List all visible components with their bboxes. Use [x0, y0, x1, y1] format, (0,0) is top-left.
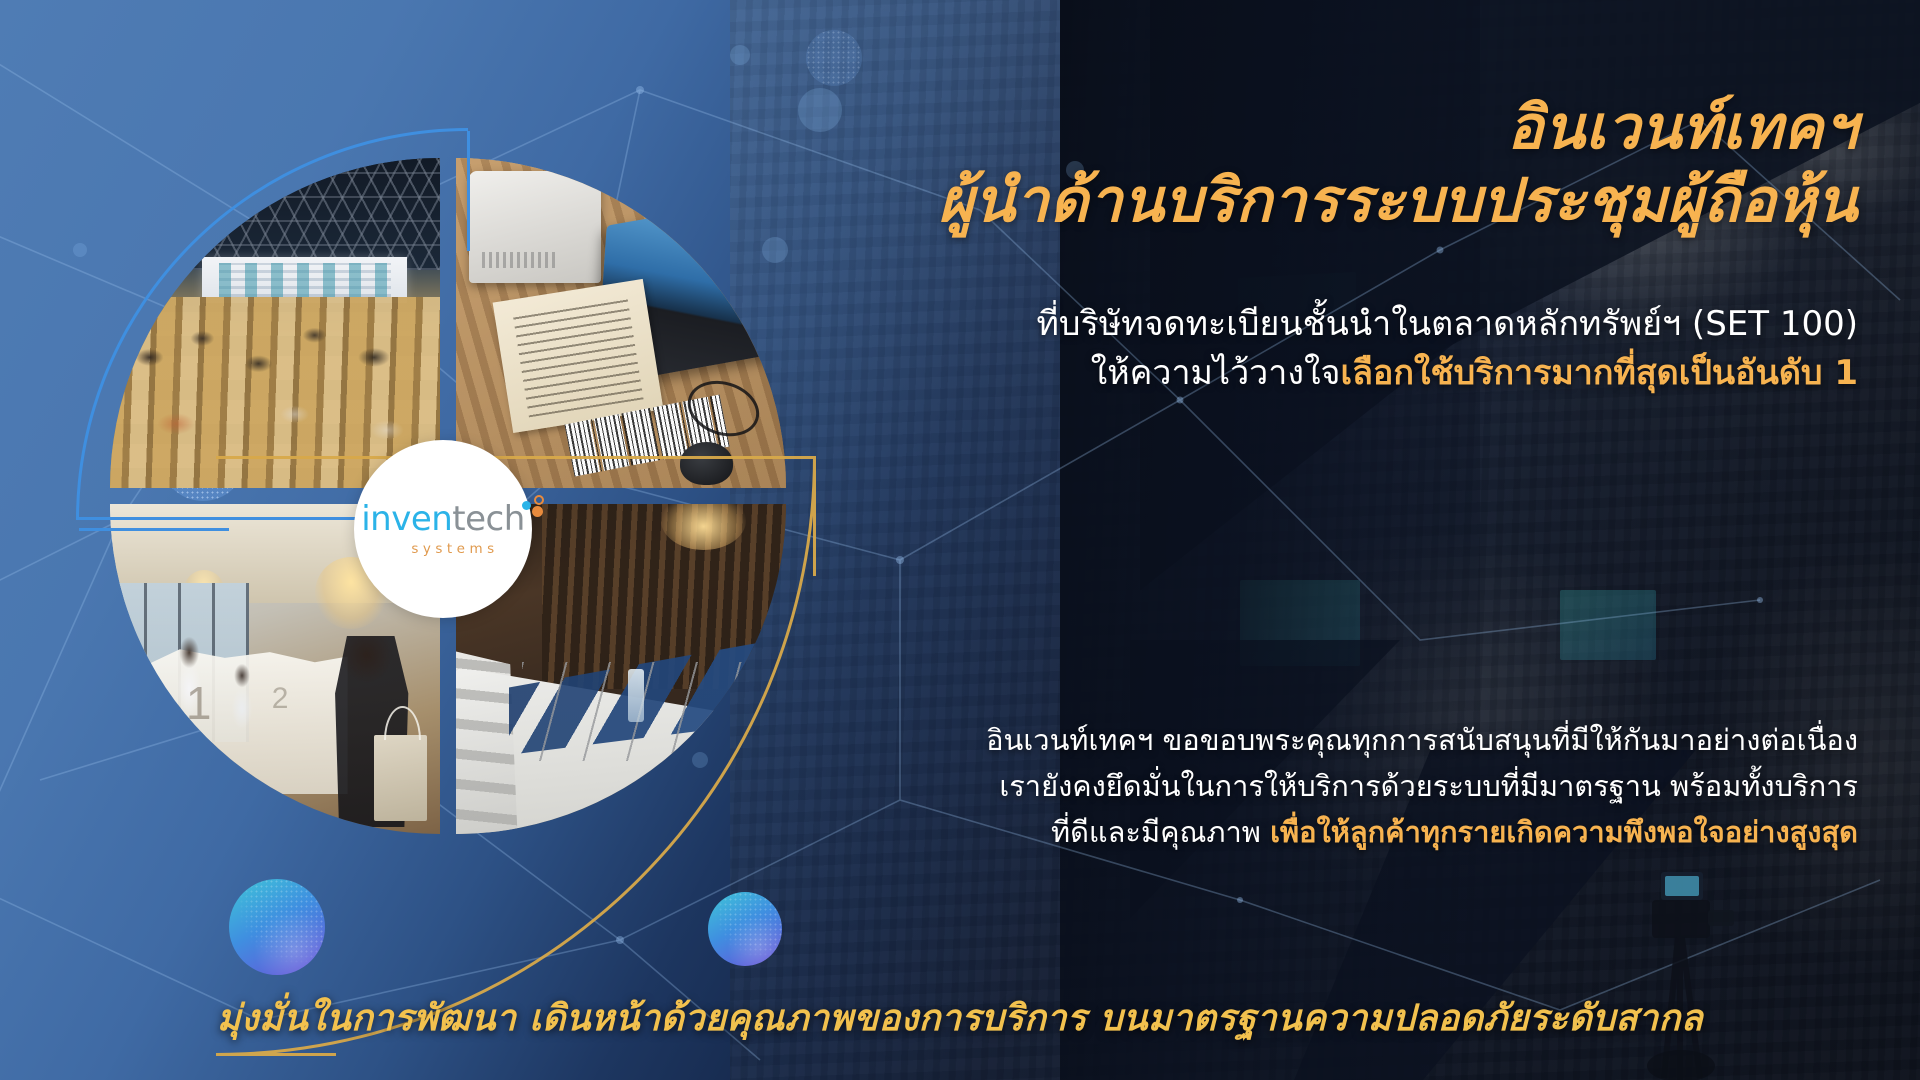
footer-tagline-block: มุ่งมั่นในการพัฒนา เดินหน้าด้วยคุณภาพของ… — [0, 989, 1920, 1046]
footer-tagline-text: มุ่งมั่นในการพัฒนา เดินหน้าด้วยคุณภาพของ… — [217, 998, 1703, 1039]
gradient-sphere-large — [229, 879, 325, 975]
background-node-dot-small — [806, 30, 862, 86]
subheadline-block: ที่บริษัทจดทะเบียนชั้นนำในตลาดหลักทรัพย์… — [678, 300, 1858, 399]
body-line-1: อินเวนท์เทคฯ ขอขอบพระคุณทุกการสนับสนุนที… — [678, 718, 1858, 764]
badge-printer — [469, 171, 601, 283]
body-paragraph-block: อินเวนท์เทคฯ ขอขอบพระคุณทุกการสนับสนุนที… — [678, 718, 1858, 855]
gradient-sphere-small — [708, 892, 782, 966]
body-line-3-accent: เพื่อให้ลูกค้าทุกรายเกิดความพึงพอใจอย่าง… — [1270, 815, 1858, 849]
blue-frame-bottom-line — [79, 528, 229, 531]
logo-dot-orange-ring-icon — [534, 495, 544, 505]
logo-wordmark: inventech — [361, 502, 525, 536]
counter-number-1: 1 — [186, 676, 212, 730]
body-line-2: เรายังคงยึดมั่นในการให้บริการด้วยระบบที่… — [678, 764, 1858, 810]
subheadline-line-1: ที่บริษัทจดทะเบียนชั้นนำในตลาดหลักทรัพย์… — [678, 300, 1858, 349]
headline-line-2: ผู้นำด้านบริการระบบประชุมผู้ถือหุ้น — [678, 165, 1858, 238]
logo-word-inven: inven — [361, 499, 452, 539]
logo-tagline: systems — [387, 541, 498, 557]
headline-line-1: อินเวนท์เทคฯ — [678, 92, 1858, 165]
logo-word-tech: tech — [452, 499, 525, 539]
stage-screen-glow-c — [1560, 590, 1656, 660]
body-line-3: ที่ดีและมีคุณภาพ เพื่อให้ลูกค้าทุกรายเกิ… — [678, 810, 1858, 856]
subheadline-line-2-accent: เลือกใช้บริการมากที่สุดเป็นอันดับ 1 — [1340, 353, 1858, 393]
logo-dots-icon — [522, 495, 546, 517]
promo-banner: 1 2 inventech — [0, 0, 1920, 1080]
logo-dot-orange-filled-icon — [532, 506, 543, 517]
body-line-3-plain: ที่ดีและมีคุณภาพ — [1051, 815, 1270, 849]
headline-block: อินเวนท์เทคฯ ผู้นำด้านบริการระบบประชุมผู… — [678, 92, 1858, 238]
inventech-logo-badge: inventech systems — [354, 440, 532, 618]
subheadline-line-2-plain: ให้ความไว้วางใจ — [1091, 353, 1341, 393]
logo-dot-blue-filled-icon — [522, 501, 531, 510]
subheadline-line-2: ให้ความไว้วางใจเลือกใช้บริการมากที่สุดเป… — [678, 349, 1858, 398]
